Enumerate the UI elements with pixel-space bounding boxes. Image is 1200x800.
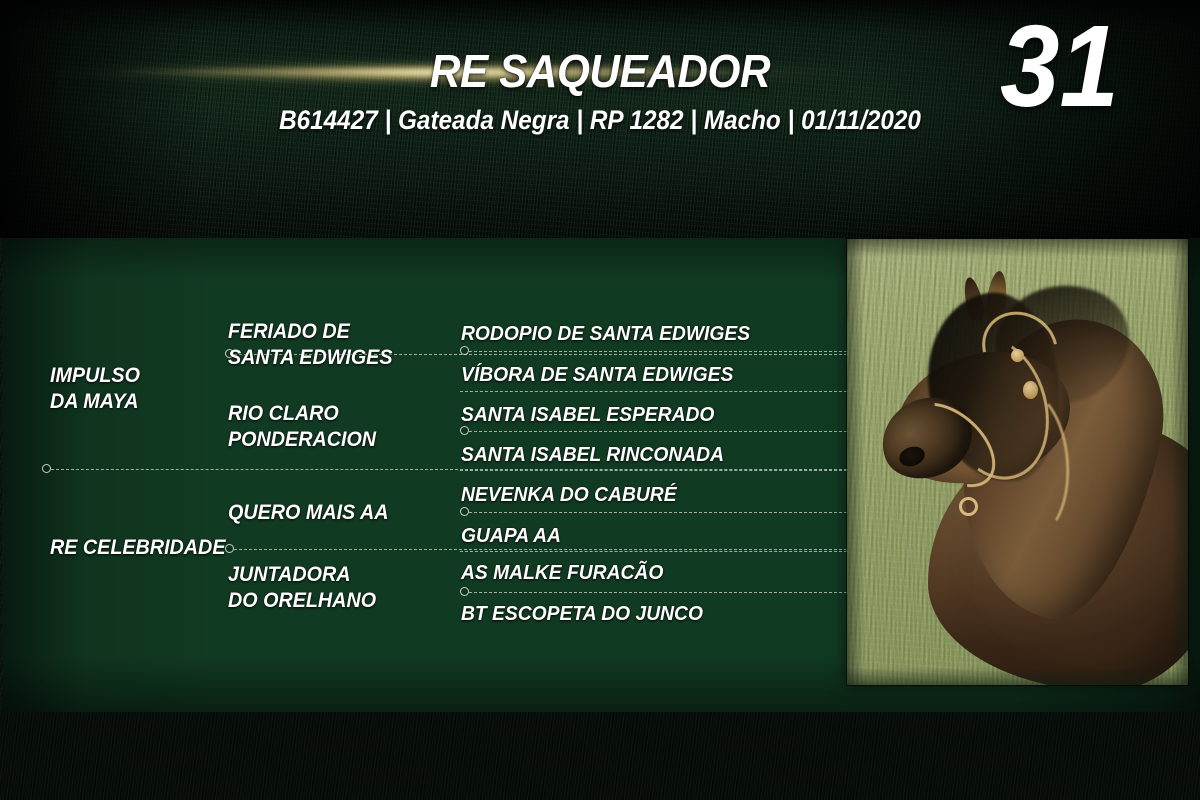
- connector-node-gen3-3: [460, 507, 469, 516]
- separator-gen3-a: [460, 391, 847, 392]
- pedigree-gen2-4: JUNTADORA DO ORELHANO: [228, 562, 444, 613]
- pedigree-gen2-3: QUERO MAIS AA: [228, 500, 444, 526]
- animal-name-title: RE SAQUEADOR: [48, 44, 1152, 98]
- connector-node-dam: [225, 544, 234, 553]
- pedigree-gen3-1: RODOPIO DE SANTA EDWIGES: [461, 321, 818, 346]
- connector-line-gen3-3: [469, 512, 847, 513]
- separator-gen3-b: [460, 470, 847, 471]
- pedigree-gen2-1: FERIADO DE SANTA EDWIGES: [228, 319, 444, 370]
- connector-line-dam: [234, 549, 847, 550]
- pedigree-gen3-7: AS MALKE FURACÃO: [461, 560, 818, 585]
- animal-details-subtitle: B614427 | Gateada Negra | RP 1282 | Mach…: [60, 105, 1140, 136]
- lot-number-badge: 31: [1000, 8, 1119, 124]
- separator-gen3-c: [460, 551, 847, 552]
- pedigree-gen1-dam: RE CELEBRIDADE: [50, 535, 238, 561]
- pedigree-card: RE SAQUEADOR B614427 | Gateada Negra | R…: [0, 0, 1200, 800]
- connector-line-gen3-4: [469, 592, 847, 593]
- connector-node-gen3-2: [460, 426, 469, 435]
- connector-line-gen3-1: [469, 351, 847, 352]
- pedigree-gen3-6: GUAPA AA: [461, 523, 818, 548]
- pedigree-gen3-3: SANTA ISABEL ESPERADO: [461, 402, 818, 427]
- footer-strip: [0, 712, 1200, 800]
- pedigree-gen3-4: SANTA ISABEL RINCONADA: [461, 442, 818, 467]
- header-band: RE SAQUEADOR B614427 | Gateada Negra | R…: [0, 0, 1200, 238]
- photo-edge-vignette: [847, 239, 1188, 685]
- pedigree-gen3-8: BT ESCOPETA DO JUNCO: [461, 601, 818, 626]
- pedigree-gen1-sire: IMPULSO DA MAYA: [50, 363, 219, 414]
- animal-photo: [847, 239, 1188, 685]
- connector-line-gen3-2: [469, 431, 847, 432]
- pedigree-gen3-2: VÍBORA DE SANTA EDWIGES: [461, 362, 818, 387]
- connector-node-gen3-1: [460, 346, 469, 355]
- pedigree-gen3-5: NEVENKA DO CABURÉ: [461, 482, 818, 507]
- pedigree-gen2-2: RIO CLARO PONDERACION: [228, 401, 444, 452]
- connector-node-gen3-4: [460, 587, 469, 596]
- connector-node-root: [42, 464, 51, 473]
